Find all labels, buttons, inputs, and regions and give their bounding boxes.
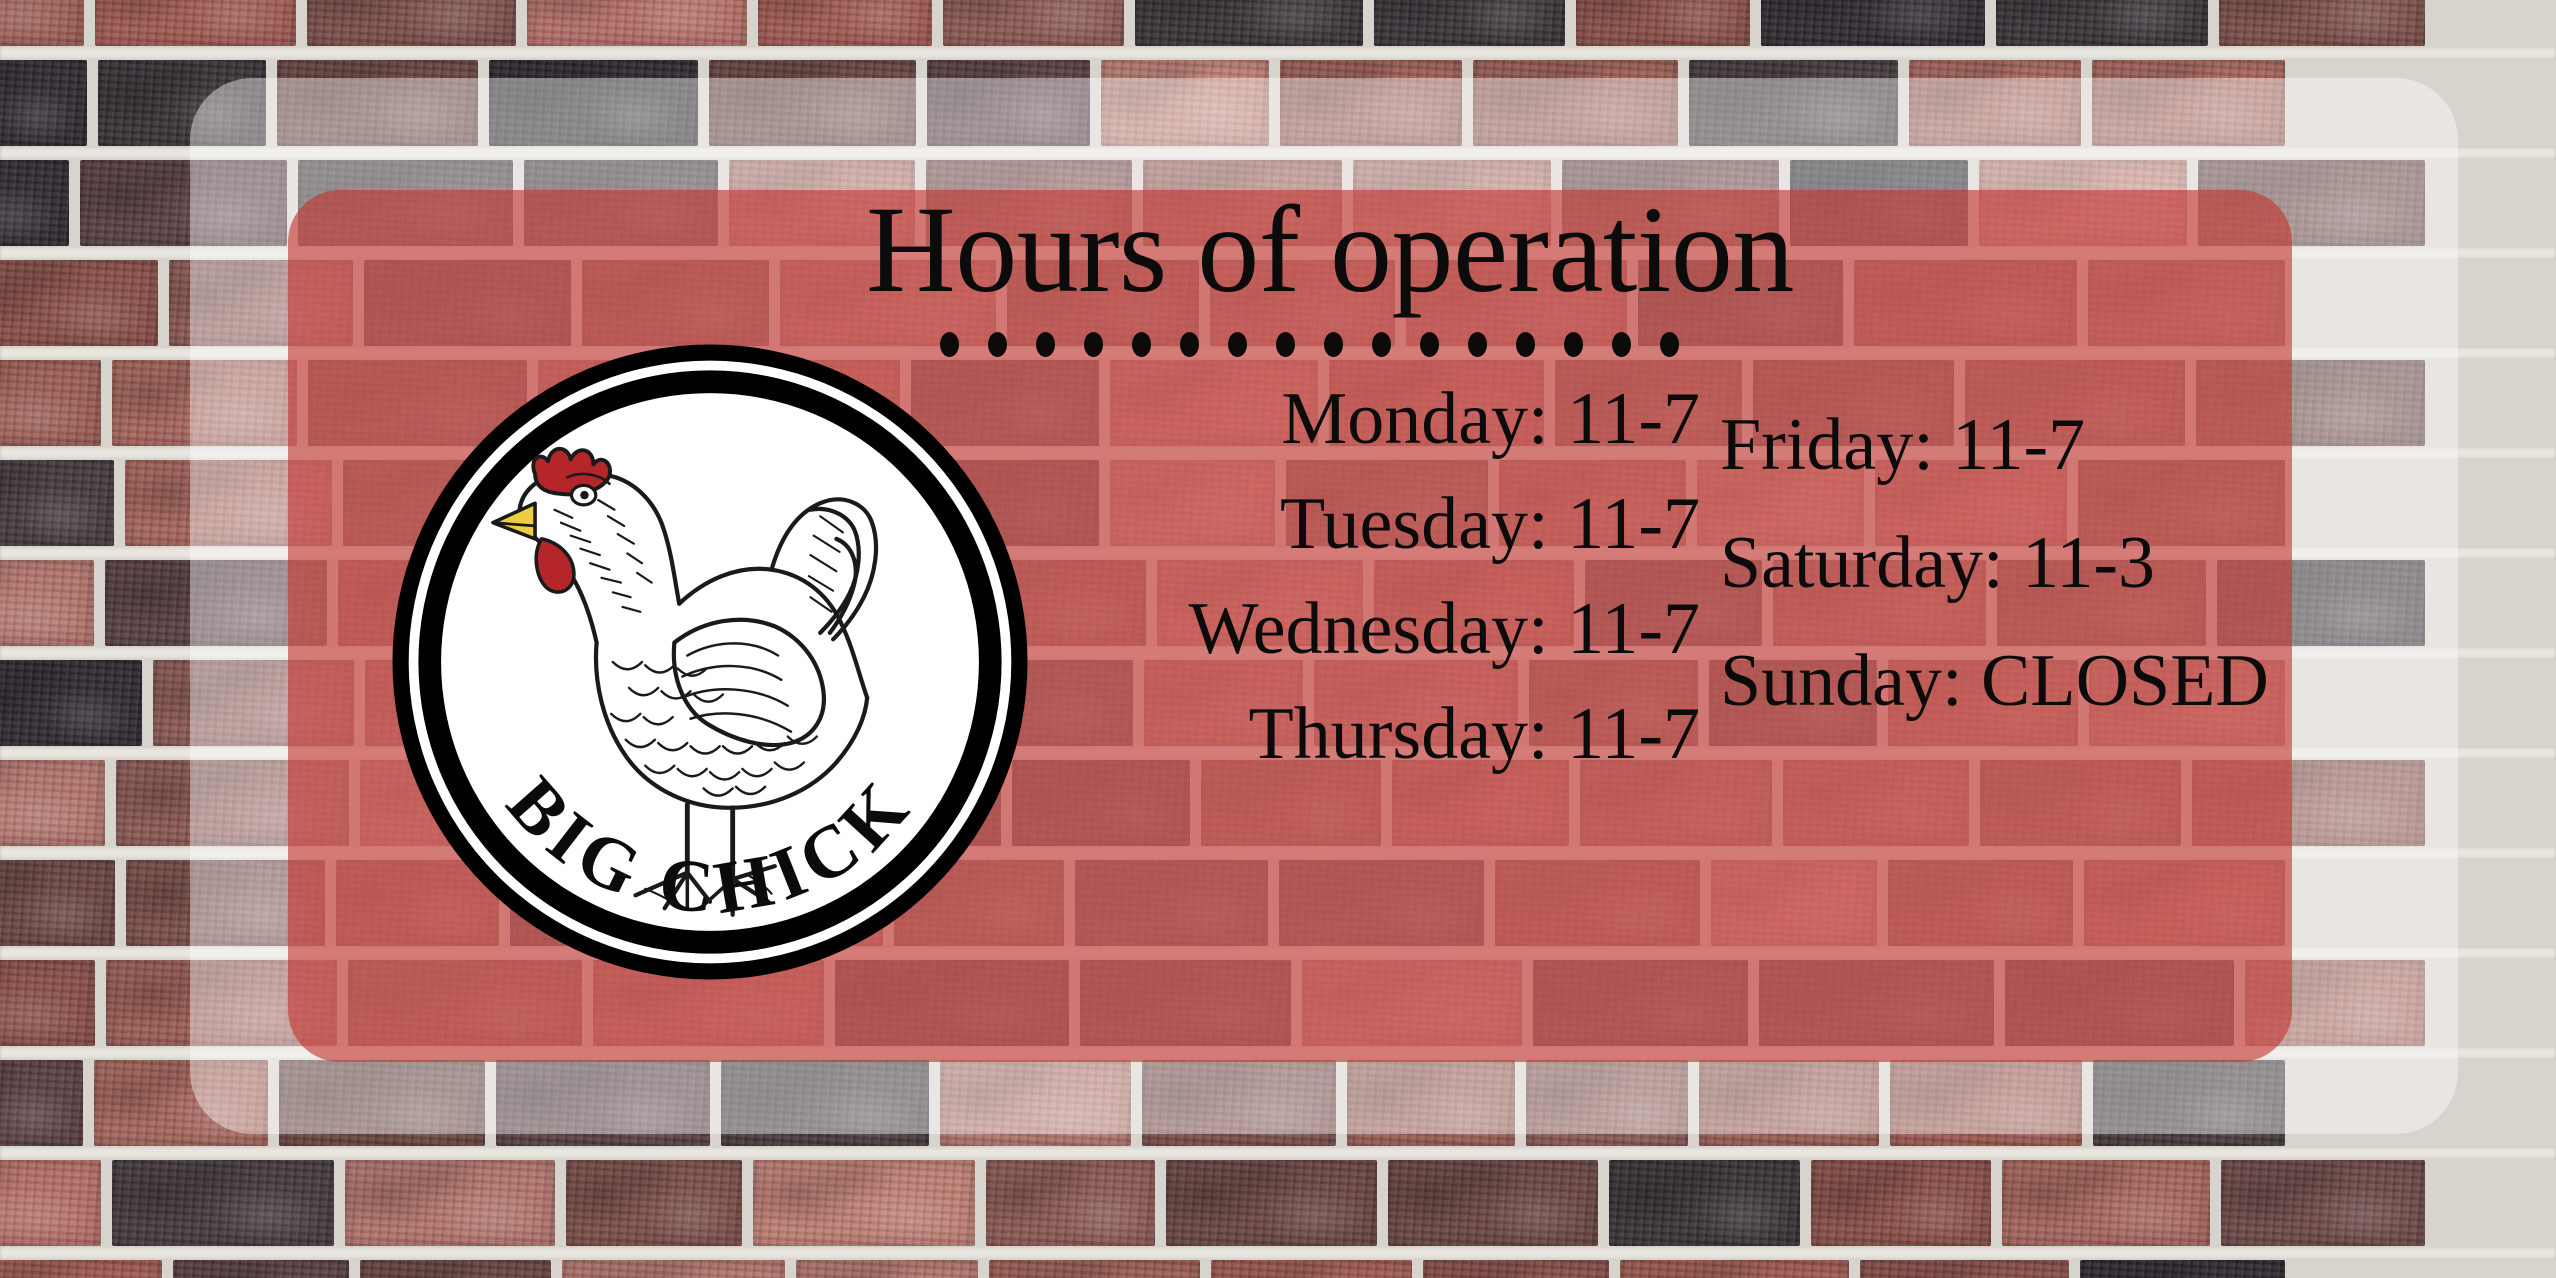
- brick: [2219, 0, 2425, 46]
- brick: [986, 1160, 1155, 1246]
- big-chick-logo: BIG CHICK: [386, 338, 1034, 986]
- brick: [1689, 60, 1899, 146]
- brick: [1142, 1060, 1337, 1146]
- brick: [1166, 1160, 1377, 1246]
- divider-dot: [1612, 332, 1631, 357]
- brick: [0, 860, 115, 946]
- brick: [1211, 1260, 1412, 1278]
- brick: [0, 660, 142, 746]
- divider-dot: [1084, 332, 1103, 357]
- brick: [927, 60, 1089, 146]
- brick: [1996, 0, 2209, 46]
- brick: [95, 0, 296, 46]
- hours-row-sunday: Sunday: CLOSED: [1720, 644, 2320, 762]
- brick: [1811, 1160, 1991, 1246]
- brick: [1609, 1160, 1800, 1246]
- brick: [1909, 60, 2081, 146]
- hours-column-right: Friday: 11-7Saturday: 11-3Sunday: CLOSED: [1720, 408, 2320, 762]
- brick: [1699, 1060, 1879, 1146]
- brick: [1620, 1260, 1849, 1278]
- brick: [1101, 60, 1270, 146]
- mortar-line: [0, 46, 2556, 60]
- mortar-line: [0, 1246, 2556, 1260]
- brick: [489, 60, 698, 146]
- brick: [0, 960, 95, 1046]
- brick: [1860, 1260, 2069, 1278]
- brick: [173, 1260, 349, 1278]
- brick: [566, 1160, 742, 1246]
- brick: [2221, 1160, 2425, 1246]
- brick: [112, 360, 297, 446]
- brick: [943, 0, 1124, 46]
- brick-row: [0, 60, 2296, 146]
- hours-row-wednesday: Wednesday: 11-7: [1020, 592, 1700, 697]
- brick: [1761, 0, 1985, 46]
- brick: [753, 1160, 975, 1246]
- divider-dot: [1180, 332, 1199, 357]
- brick: [98, 60, 267, 146]
- brick: [0, 560, 94, 646]
- brick: [0, 1160, 101, 1246]
- divider-dot: [1036, 332, 1055, 357]
- brick: [2092, 60, 2285, 146]
- brick: [0, 460, 114, 546]
- brick: [1526, 1060, 1688, 1146]
- brick: [562, 1260, 785, 1278]
- brick: [496, 1060, 710, 1146]
- divider-dot: [1276, 332, 1295, 357]
- brick: [1388, 1160, 1598, 1246]
- divider-dot: [1228, 332, 1247, 357]
- dotted-divider: [940, 332, 1679, 357]
- brick: [1890, 1060, 2082, 1146]
- brick: [1280, 60, 1462, 146]
- divider-dot: [1468, 332, 1487, 357]
- brick: [112, 1160, 334, 1246]
- divider-dot: [1420, 332, 1439, 357]
- mortar-line: [0, 146, 2556, 160]
- hours-text: Monday: 11-7: [1281, 382, 1700, 456]
- hours-text: Saturday: 11-3: [1720, 526, 2155, 600]
- brick: [758, 0, 932, 46]
- brick: [0, 1260, 162, 1278]
- page-title: Hours of operation: [480, 186, 2180, 315]
- brick-row: [0, 1260, 2296, 1278]
- hours-text: Friday: 11-7: [1720, 408, 2085, 482]
- brick: [1347, 1060, 1514, 1146]
- brick: [527, 0, 747, 46]
- hours-row-saturday: Saturday: 11-3: [1720, 526, 2320, 644]
- brick: [2093, 1060, 2285, 1146]
- brick: [940, 1060, 1131, 1146]
- brick: [1576, 0, 1750, 46]
- brick: [1473, 60, 1678, 146]
- hours-column-left: Monday: 11-7Tuesday: 11-7Wednesday: 11-7…: [1020, 382, 1700, 802]
- brick: [277, 60, 478, 146]
- hours-row-thursday: Thursday: 11-7: [1020, 697, 1700, 802]
- brick: [796, 1260, 979, 1278]
- brick: [0, 360, 101, 446]
- divider-dot: [1132, 332, 1151, 357]
- brick: [709, 60, 916, 146]
- brick: [94, 1060, 268, 1146]
- brick: [1423, 1260, 1608, 1278]
- brick-row: [0, 0, 2436, 46]
- brick: [307, 0, 516, 46]
- hours-row-tuesday: Tuesday: 11-7: [1020, 487, 1700, 592]
- divider-dot: [1324, 332, 1343, 357]
- brick: [2002, 1160, 2210, 1246]
- brick: [2080, 1260, 2285, 1278]
- divider-dot: [1516, 332, 1535, 357]
- sign-scene: Hours of operation: [0, 0, 2556, 1278]
- hours-text: Tuesday: 11-7: [1280, 487, 1700, 561]
- brick: [360, 1260, 551, 1278]
- brick: [989, 1260, 1200, 1278]
- brick-row: [0, 1160, 2436, 1246]
- brick: [80, 160, 288, 246]
- divider-dot: [1564, 332, 1583, 357]
- brick: [0, 760, 105, 846]
- divider-dot: [1372, 332, 1391, 357]
- brick: [0, 60, 87, 146]
- hours-text: Thursday: 11-7: [1249, 697, 1700, 771]
- brick: [1374, 0, 1565, 46]
- brick: [0, 160, 69, 246]
- brick: [0, 1060, 83, 1146]
- hours-text: Wednesday: 11-7: [1189, 592, 1700, 666]
- hours-row-friday: Friday: 11-7: [1720, 408, 2320, 526]
- brick: [279, 1060, 485, 1146]
- brick-row: [0, 1060, 2296, 1146]
- chicken-pupil: [580, 491, 588, 499]
- brick: [1135, 0, 1363, 46]
- hours-text: Sunday: CLOSED: [1720, 644, 2269, 718]
- brick: [0, 260, 158, 346]
- brick: [0, 0, 84, 46]
- hours-row-monday: Monday: 11-7: [1020, 382, 1700, 487]
- mortar-line: [0, 1146, 2556, 1160]
- brick: [345, 1160, 555, 1246]
- divider-dot: [1660, 332, 1679, 357]
- brick: [721, 1060, 929, 1146]
